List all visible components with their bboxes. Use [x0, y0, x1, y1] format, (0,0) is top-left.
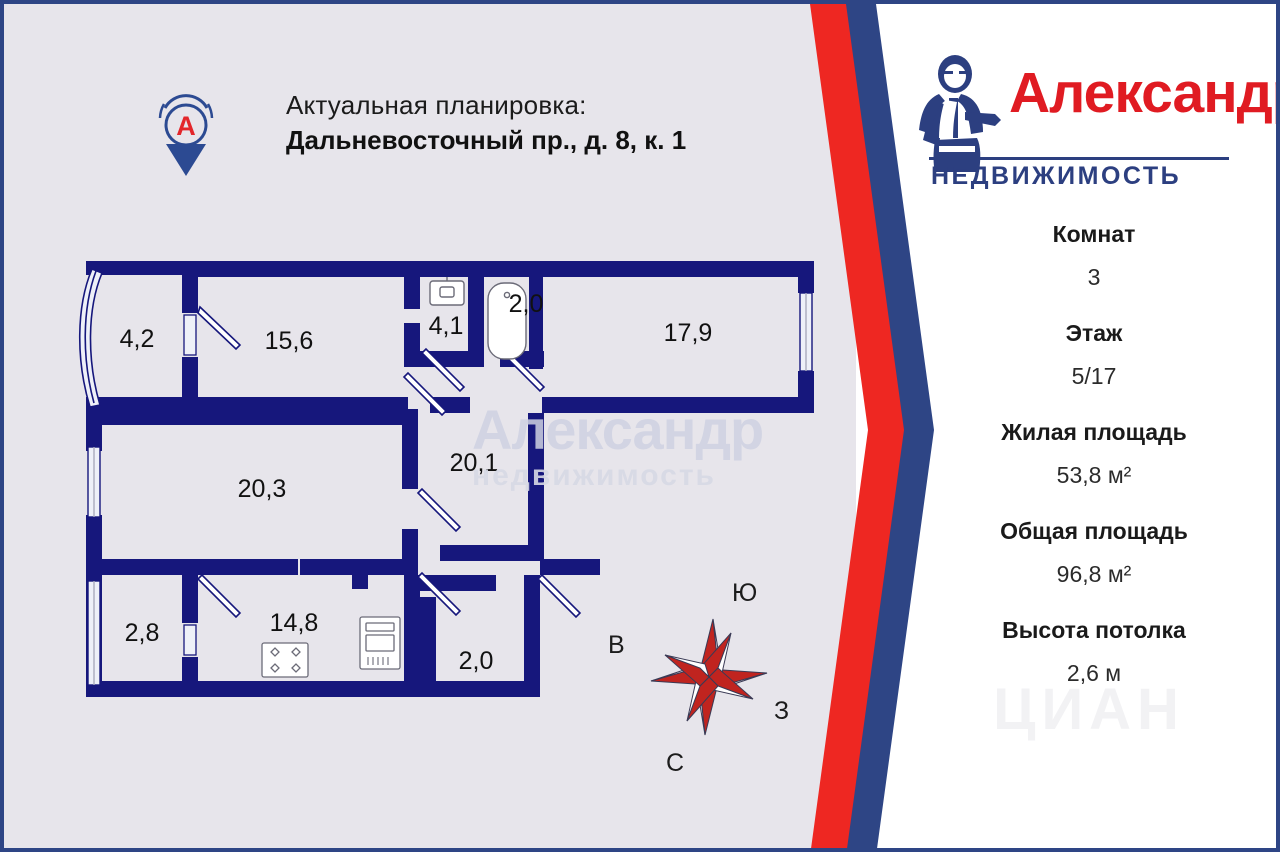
spec-value-ceiling-height: 2,6 м	[944, 658, 1244, 688]
svg-text:A: A	[176, 111, 196, 141]
agent-man-icon	[909, 54, 1005, 174]
compass-label-west: В	[608, 631, 625, 660]
logo-wordmark: Александр	[1009, 60, 1280, 126]
property-specs: Комнат 3 Этаж 5/17 Жилая площадь 53,8 м²…	[944, 219, 1244, 688]
area-label-room-15-6: 15,6	[265, 327, 314, 355]
spec-value-floor: 5/17	[944, 361, 1244, 391]
spec-label-total-area: Общая площадь	[944, 516, 1244, 546]
kitchen-sink-icon	[360, 617, 400, 669]
spec-value-rooms: 3	[944, 262, 1244, 292]
area-label-hallway-20-1: 20,1	[450, 449, 499, 477]
spec-value-total-area: 96,8 м²	[944, 559, 1244, 589]
area-label-kitchen-14-8: 14,8	[270, 609, 319, 637]
spec-label-ceiling-height: Высота потолка	[944, 615, 1244, 645]
spec-label-floor: Этаж	[944, 318, 1244, 348]
header-line1: Актуальная планировка:	[286, 88, 686, 122]
area-label-balcony-top-left: 4,2	[120, 325, 155, 353]
compass-label-north: Ю	[732, 579, 757, 608]
window-room-20-3	[88, 447, 100, 517]
window-interior-bottom	[184, 625, 196, 655]
sink-icon	[430, 277, 464, 305]
compass-label-east: З	[774, 697, 789, 726]
window-balcony-top-left	[80, 269, 102, 407]
window-interior-top	[184, 315, 196, 355]
area-label-room-20-3: 20,3	[238, 475, 287, 503]
spec-label-rooms: Комнат	[944, 219, 1244, 249]
spec-label-living-area: Жилая площадь	[944, 417, 1244, 447]
floorplan-page: A Актуальная планировка: Дальневосточный…	[0, 0, 1280, 852]
compass-rose-icon	[594, 569, 824, 789]
map-pin-a-icon: A	[156, 92, 216, 178]
window-room-17-9	[800, 293, 812, 371]
stove-icon	[262, 643, 308, 677]
compass-label-south: С	[666, 749, 684, 778]
spec-value-living-area: 53,8 м²	[944, 460, 1244, 490]
logo-subtitle: НЕДВИЖИМОСТЬ	[931, 160, 1181, 192]
window-balcony-bottom-left	[88, 581, 100, 685]
compass: Ю В З С	[594, 569, 824, 789]
area-label-bathroom-4-1: 4,1	[429, 312, 464, 340]
header: A Актуальная планировка: Дальневосточный…	[156, 92, 776, 182]
area-label-pantry-2-0: 2,0	[459, 647, 494, 675]
area-label-wc-2-0: 2,0	[509, 290, 544, 318]
area-label-balcony-bottom-left: 2,8	[125, 619, 160, 647]
header-line2: Дальневосточный пр., д. 8, к. 1	[286, 122, 686, 158]
area-label-room-17-9: 17,9	[664, 319, 713, 347]
company-logo: Александр НЕДВИЖИМОСТЬ	[909, 52, 1229, 187]
